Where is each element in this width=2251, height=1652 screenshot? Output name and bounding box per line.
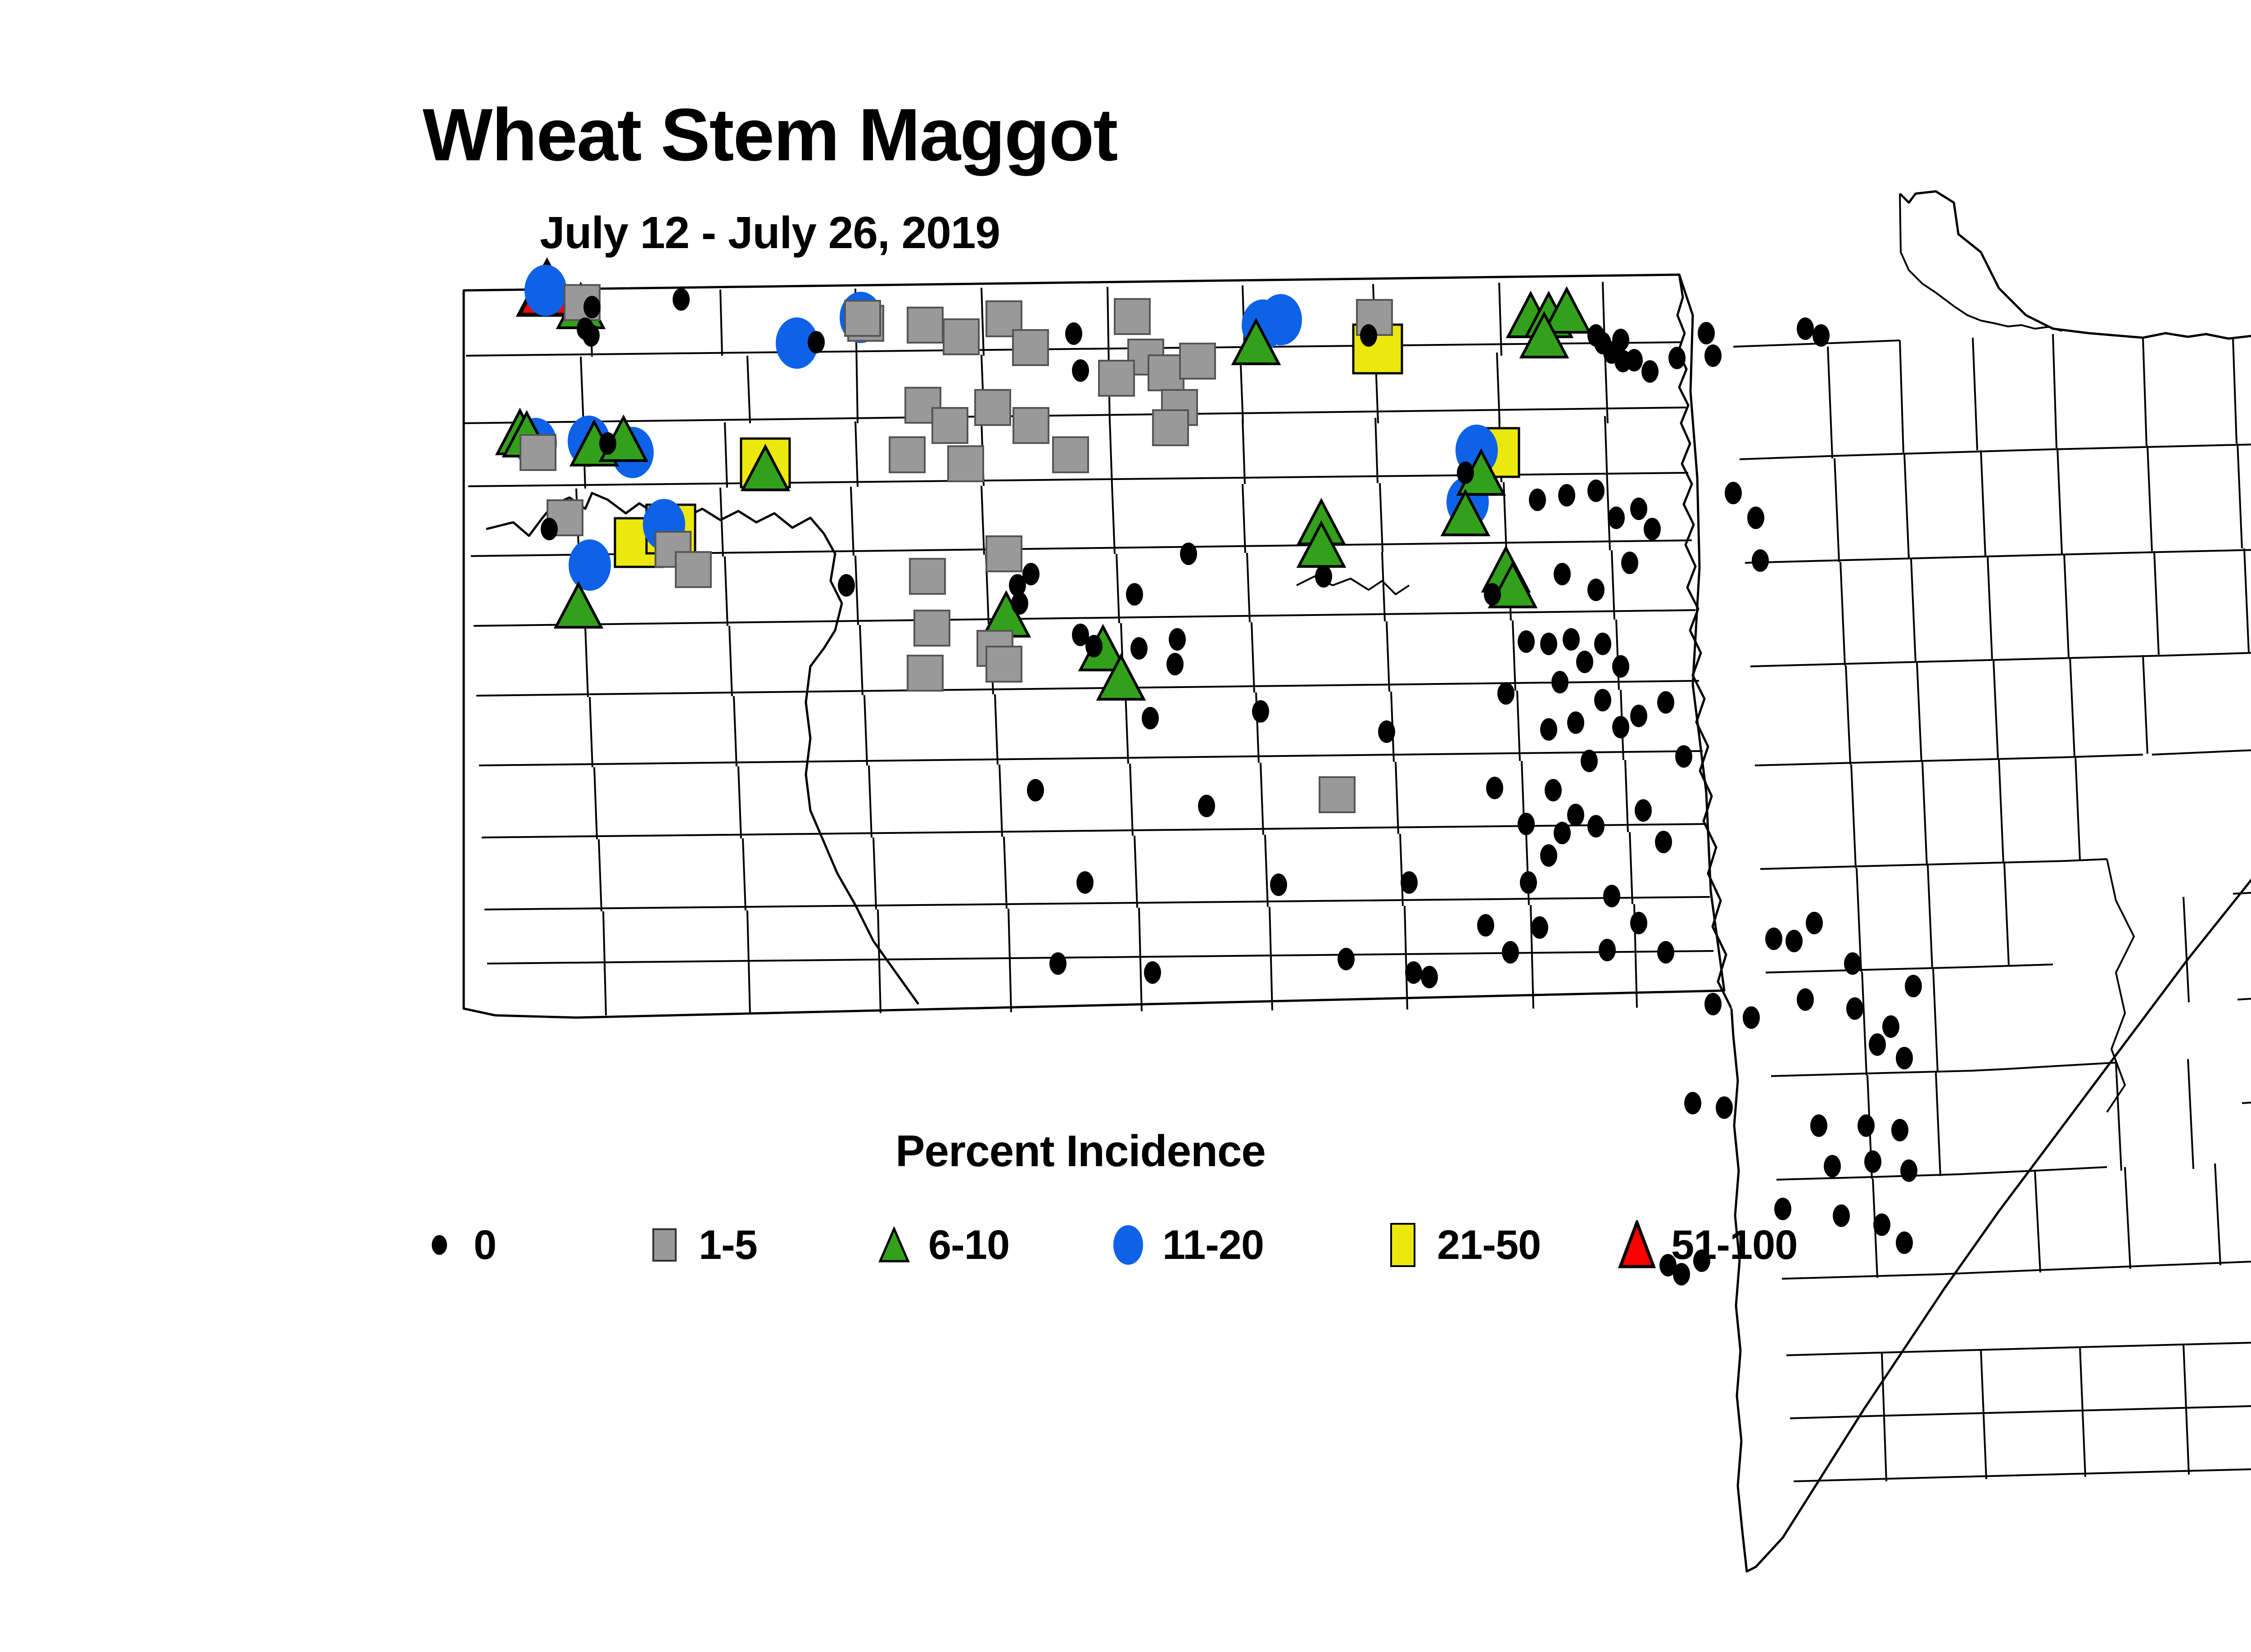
incidence-marker[interactable] (1630, 912, 1647, 934)
incidence-marker[interactable] (1252, 700, 1269, 723)
incidence-marker[interactable] (1896, 1047, 1913, 1069)
incidence-marker[interactable] (1657, 691, 1674, 714)
incidence-marker[interactable] (1635, 799, 1652, 822)
incidence-marker[interactable] (986, 647, 1022, 682)
incidence-marker[interactable] (1099, 361, 1134, 396)
incidence-marker[interactable] (1518, 813, 1535, 835)
incidence-marker[interactable] (1810, 1114, 1827, 1137)
incidence-marker[interactable] (1813, 324, 1830, 347)
incidence-marker[interactable] (1169, 628, 1186, 651)
incidence-marker[interactable] (1704, 993, 1722, 1015)
incidence-marker[interactable] (1027, 779, 1044, 801)
incidence-marker[interactable] (1704, 344, 1722, 367)
incidence-marker[interactable] (1743, 1006, 1760, 1029)
incidence-marker[interactable] (1520, 871, 1537, 894)
incidence-marker[interactable] (1747, 507, 1764, 529)
incidence-marker[interactable] (1563, 628, 1580, 651)
incidence-marker[interactable] (1716, 1096, 1733, 1119)
incidence-marker[interactable] (1567, 711, 1584, 734)
incidence-marker[interactable] (914, 611, 949, 646)
incidence-marker[interactable] (1022, 563, 1040, 585)
legend-title: Percent Incidence (405, 1126, 1756, 1177)
incidence-marker[interactable] (1655, 831, 1672, 853)
incidence-marker[interactable] (1477, 914, 1494, 937)
incidence-marker[interactable] (1657, 941, 1674, 964)
incidence-marker[interactable] (1013, 408, 1049, 443)
incidence-marker[interactable] (1603, 885, 1620, 907)
incidence-marker[interactable] (1844, 952, 1861, 975)
incidence-marker[interactable] (541, 518, 558, 540)
incidence-marker[interactable] (1797, 988, 1814, 1011)
incidence-marker[interactable] (1725, 482, 1742, 504)
incidence-marker[interactable] (1085, 635, 1103, 657)
incidence-marker[interactable] (1846, 997, 1863, 1020)
legend-item-4[interactable]: 21-50 (1382, 1216, 1541, 1274)
incidence-marker[interactable] (944, 319, 979, 354)
incidence-marker[interactable] (1130, 637, 1148, 660)
incidence-marker[interactable] (1338, 948, 1355, 970)
incidence-marker[interactable] (1567, 804, 1584, 826)
incidence-marker[interactable] (1644, 518, 1661, 540)
incidence-marker[interactable] (1531, 916, 1548, 939)
incidence-marker[interactable] (1142, 707, 1159, 729)
incidence-marker[interactable] (1126, 583, 1143, 606)
incidence-marker[interactable] (1668, 347, 1686, 369)
incidence-marker[interactable] (908, 656, 943, 691)
yellow-square-icon (1382, 1222, 1424, 1268)
incidence-marker[interactable] (1540, 718, 1557, 741)
incidence-marker[interactable] (1049, 952, 1067, 975)
incidence-marker[interactable] (1824, 1155, 1841, 1177)
incidence-marker[interactable] (1587, 815, 1605, 837)
incidence-marker[interactable] (1641, 360, 1659, 383)
incidence-marker[interactable] (1013, 330, 1048, 365)
incidence-marker[interactable] (1518, 630, 1535, 653)
incidence-marker[interactable] (1612, 329, 1629, 351)
incidence-marker[interactable] (1076, 871, 1094, 894)
incidence-marker[interactable] (1545, 779, 1562, 801)
incidence-marker[interactable] (524, 265, 567, 316)
incidence-marker[interactable] (1587, 579, 1605, 601)
incidence-marker[interactable] (1378, 720, 1395, 743)
black-dot-icon (419, 1234, 460, 1256)
minnesota-counties (1731, 191, 2251, 1571)
incidence-marker[interactable] (1630, 498, 1647, 520)
incidence-marker[interactable] (910, 559, 945, 594)
incidence-marker[interactable] (569, 539, 611, 591)
legend-item-0[interactable]: 0 (419, 1216, 496, 1274)
incidence-marker[interactable] (1858, 1114, 1875, 1137)
incidence-marker[interactable] (1153, 410, 1188, 445)
incidence-marker[interactable] (1698, 322, 1715, 344)
incidence-marker[interactable] (1315, 565, 1332, 588)
legend-label-1: 1-5 (699, 1222, 757, 1269)
legend-item-1[interactable]: 1-5 (644, 1216, 757, 1274)
incidence-marker[interactable] (890, 437, 925, 472)
green-triangle-icon (873, 1227, 915, 1263)
incidence-marker[interactable] (1896, 1231, 1913, 1254)
incidence-marker[interactable] (1457, 462, 1474, 484)
incidence-marker[interactable] (808, 331, 825, 353)
incidence-marker[interactable] (1594, 689, 1611, 711)
gray-square-icon (644, 1227, 685, 1263)
incidence-marker[interactable] (932, 408, 967, 443)
incidence-marker[interactable] (1785, 930, 1803, 952)
incidence-marker[interactable] (1180, 344, 1215, 379)
incidence-marker[interactable] (1587, 480, 1605, 502)
incidence-marker[interactable] (1529, 489, 1546, 511)
incidence-marker[interactable] (1502, 941, 1519, 964)
incidence-marker[interactable] (1608, 507, 1625, 529)
incidence-marker[interactable] (673, 288, 690, 311)
incidence-marker[interactable] (975, 390, 1010, 425)
incidence-marker[interactable] (1806, 912, 1823, 934)
incidence-marker[interactable] (1011, 592, 1028, 615)
incidence-marker[interactable] (986, 536, 1022, 571)
map-canvas[interactable] (0, 0, 2251, 1652)
incidence-marker[interactable] (1873, 1213, 1890, 1236)
legend-item-2[interactable]: 6-10 (873, 1216, 1009, 1274)
incidence-marker[interactable] (1484, 583, 1501, 606)
legend-label-3: 11-20 (1162, 1222, 1264, 1269)
incidence-marker[interactable] (583, 324, 600, 347)
county-map-svg[interactable] (0, 0, 2251, 1652)
legend-item-3[interactable]: 11-20 (1107, 1216, 1264, 1274)
incidence-marker[interactable] (1626, 349, 1643, 371)
incidence-marker[interactable] (838, 574, 855, 597)
incidence-marker[interactable] (1905, 975, 1922, 997)
incidence-marker[interactable] (1864, 1150, 1881, 1173)
incidence-marker[interactable] (1752, 549, 1769, 572)
incidence-marker[interactable] (1684, 1092, 1701, 1114)
incidence-marker[interactable] (1198, 795, 1215, 817)
incidence-marker[interactable] (1180, 543, 1197, 565)
incidence-marker[interactable] (1320, 777, 1355, 812)
incidence-marker[interactable] (1581, 750, 1598, 772)
incidence-marker[interactable] (1612, 716, 1629, 738)
mn-outline (1731, 191, 2251, 1571)
incidence-marker[interactable] (1882, 1015, 1899, 1038)
legend: Percent Incidence 0 1-5 6-10 11-20 (405, 1126, 1756, 1288)
incidence-marker[interactable] (1554, 563, 1571, 585)
incidence-marker[interactable] (1360, 324, 1377, 347)
incidence-marker[interactable] (583, 296, 601, 318)
incidence-marker[interactable] (1833, 1204, 1850, 1227)
incidence-marker[interactable] (845, 301, 880, 336)
legend-item-5[interactable]: 51-100 (1616, 1216, 1797, 1274)
incidence-marker[interactable] (676, 552, 711, 587)
incidence-marker[interactable] (1486, 777, 1503, 799)
incidence-marker[interactable] (1166, 653, 1184, 675)
incidence-marker[interactable] (1551, 671, 1568, 693)
incidence-marker[interactable] (1869, 1033, 1886, 1056)
incidence-marker[interactable] (1765, 928, 1782, 950)
legend-label-4: 21-50 (1437, 1222, 1541, 1269)
incidence-marker[interactable] (1115, 299, 1150, 334)
incidence-marker[interactable] (1065, 322, 1082, 345)
incidence-marker[interactable] (1401, 871, 1418, 894)
incidence-marker[interactable] (1144, 961, 1161, 984)
incidence-marker[interactable] (1621, 552, 1638, 574)
incidence-marker[interactable] (1797, 317, 1814, 340)
incidence-marker[interactable] (1891, 1119, 1908, 1141)
blue-circle-icon (1107, 1223, 1149, 1267)
incidence-marker[interactable] (908, 308, 943, 343)
incidence-marker[interactable] (1630, 705, 1647, 727)
legend-label-5: 51-100 (1671, 1222, 1797, 1269)
incidence-marker[interactable] (1270, 874, 1287, 896)
incidence-marker[interactable] (1612, 655, 1629, 678)
incidence-marker[interactable] (599, 432, 616, 455)
incidence-marker[interactable] (948, 446, 983, 481)
incidence-marker[interactable] (1497, 682, 1514, 705)
incidence-marker[interactable] (1148, 355, 1184, 390)
map-figure: Wheat Stem Maggot July 12 - July 26, 201… (0, 0, 2251, 1652)
legend-label-2: 6-10 (928, 1222, 1009, 1269)
incidence-marker[interactable] (1072, 359, 1089, 382)
incidence-marker[interactable] (1540, 844, 1557, 867)
incidence-marker[interactable] (1599, 939, 1616, 961)
incidence-marker[interactable] (1421, 966, 1438, 988)
incidence-marker[interactable] (1405, 961, 1422, 984)
incidence-marker[interactable] (1540, 633, 1557, 655)
incidence-marker[interactable] (1900, 1159, 1917, 1182)
incidence-marker[interactable] (1576, 651, 1593, 673)
incidence-marker[interactable] (1053, 437, 1088, 472)
legend-label-0: 0 (474, 1222, 496, 1269)
incidence-marker[interactable] (1554, 822, 1571, 844)
incidence-marker[interactable] (520, 435, 556, 470)
red-triangle-icon (1616, 1220, 1658, 1270)
incidence-marker[interactable] (1675, 745, 1692, 768)
incidence-marker[interactable] (1594, 633, 1611, 655)
incidence-marker[interactable] (1558, 484, 1575, 507)
